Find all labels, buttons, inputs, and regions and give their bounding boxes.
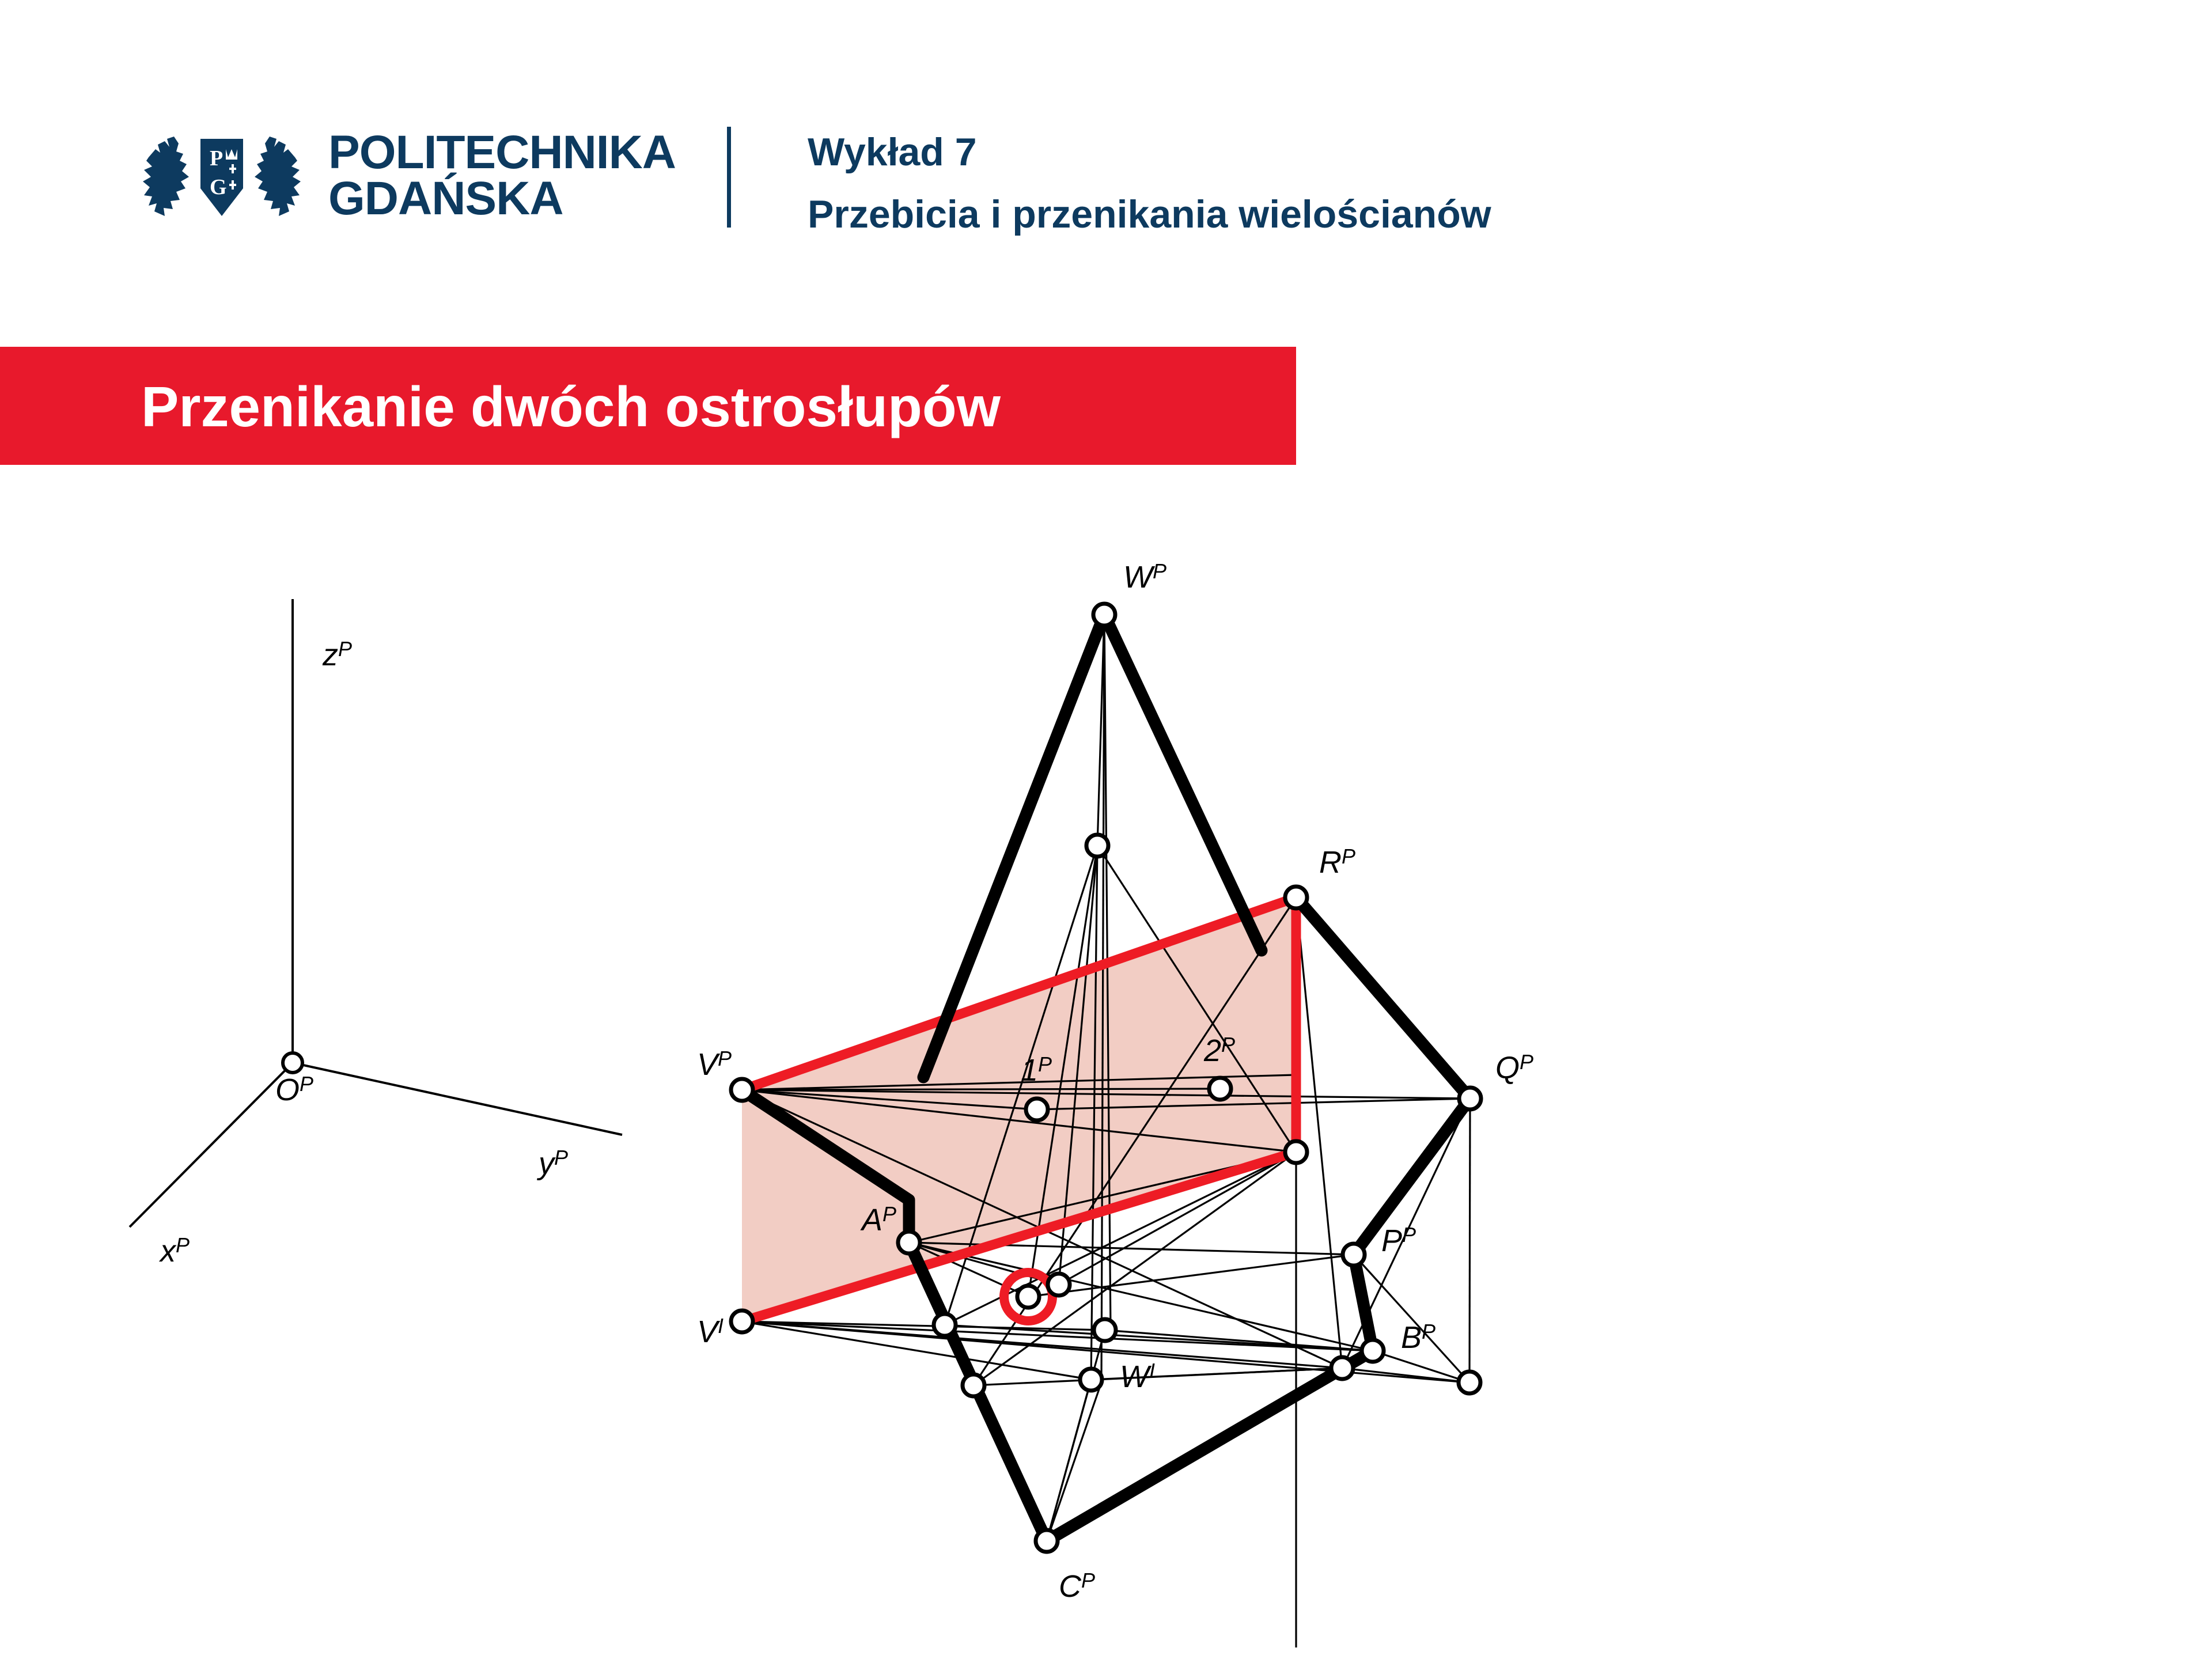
label-C-P: CP bbox=[1059, 1569, 1095, 1604]
vertex-unlabelled-8 bbox=[1459, 1372, 1480, 1393]
vertex-2-P bbox=[1209, 1078, 1231, 1100]
university-logo-block: P G POLITECHNIKA GDAŃSKA bbox=[138, 124, 676, 228]
technical-drawing: zP yP xP OP bbox=[0, 495, 2212, 1659]
axis-y-line bbox=[293, 1063, 622, 1135]
label-B-P: BP bbox=[1401, 1320, 1435, 1355]
drawing-canvas: zP yP xP OP bbox=[0, 495, 2212, 1659]
edge-W-R bbox=[1104, 615, 1262, 950]
header-divider bbox=[727, 127, 731, 228]
vertex-Q-P bbox=[1459, 1088, 1481, 1109]
vertex-unlabelled-3 bbox=[934, 1314, 956, 1336]
vertex-unlabelled-6 bbox=[1080, 1369, 1102, 1391]
vertex-A-P bbox=[898, 1232, 920, 1253]
vertex-V-P bbox=[731, 1079, 753, 1101]
vertex-P-P bbox=[1343, 1244, 1365, 1266]
pg-coat-of-arms-icon: P G bbox=[138, 124, 305, 228]
cutting-plane-fill bbox=[742, 897, 1296, 1321]
lecture-number: Wykład 7 bbox=[808, 130, 1491, 175]
slide-header: P G POLITECHNIKA GDAŃSKA Wykład 7 Przebi… bbox=[0, 0, 2212, 323]
vertex-highlighted bbox=[1017, 1286, 1039, 1308]
slide-title: Przenikanie dwóch ostrosłupów bbox=[141, 374, 1001, 440]
label-Q-P: QP bbox=[1495, 1050, 1533, 1085]
vertex-1-P bbox=[1026, 1099, 1048, 1120]
axis-label-y: yP bbox=[536, 1146, 568, 1181]
university-name-line1: POLITECHNIKA bbox=[328, 130, 676, 176]
vertex-unlabelled-4 bbox=[963, 1374, 984, 1396]
label-P-P: PP bbox=[1381, 1223, 1416, 1258]
university-name: POLITECHNIKA GDAŃSKA bbox=[328, 130, 676, 222]
vertex-origin bbox=[283, 1053, 302, 1073]
lecture-title: Przebicia i przenikania wielościanów bbox=[808, 192, 1491, 237]
label-V-P: VP bbox=[697, 1047, 732, 1082]
slide-title-banner: Przenikanie dwóch ostrosłupów bbox=[0, 347, 1296, 465]
label-W-prime: WI bbox=[1120, 1359, 1155, 1394]
svg-text:P: P bbox=[210, 146, 223, 171]
axis-label-z: zP bbox=[322, 637, 352, 672]
vertex-R-P bbox=[1285, 887, 1307, 908]
label-V-prime: VI bbox=[697, 1314, 724, 1349]
coordinate-axes bbox=[130, 599, 622, 1227]
axis-label-origin: OP bbox=[275, 1072, 313, 1107]
svg-text:G: G bbox=[210, 175, 227, 199]
label-W-P: WP bbox=[1123, 559, 1166, 594]
vertex-unlabelled-5 bbox=[1048, 1274, 1070, 1296]
vertex-W-P bbox=[1093, 604, 1115, 626]
university-name-line2: GDAŃSKA bbox=[328, 176, 676, 222]
vertex-unlabelled-2 bbox=[1285, 1141, 1307, 1163]
vertex-unlabelled-7 bbox=[1331, 1357, 1353, 1379]
lecture-info: Wykład 7 Przebicia i przenikania wielośc… bbox=[808, 130, 1491, 237]
vertex-V-prime bbox=[731, 1310, 753, 1332]
vertex-C-P bbox=[1036, 1530, 1058, 1552]
vertex-unlabelled-1 bbox=[1086, 835, 1108, 857]
axis-label-x: xP bbox=[158, 1233, 190, 1268]
vertex-W-prime bbox=[1094, 1319, 1116, 1341]
label-R-P: RP bbox=[1319, 844, 1355, 880]
vertex-B-P bbox=[1362, 1340, 1384, 1362]
axis-x-line bbox=[130, 1063, 293, 1227]
